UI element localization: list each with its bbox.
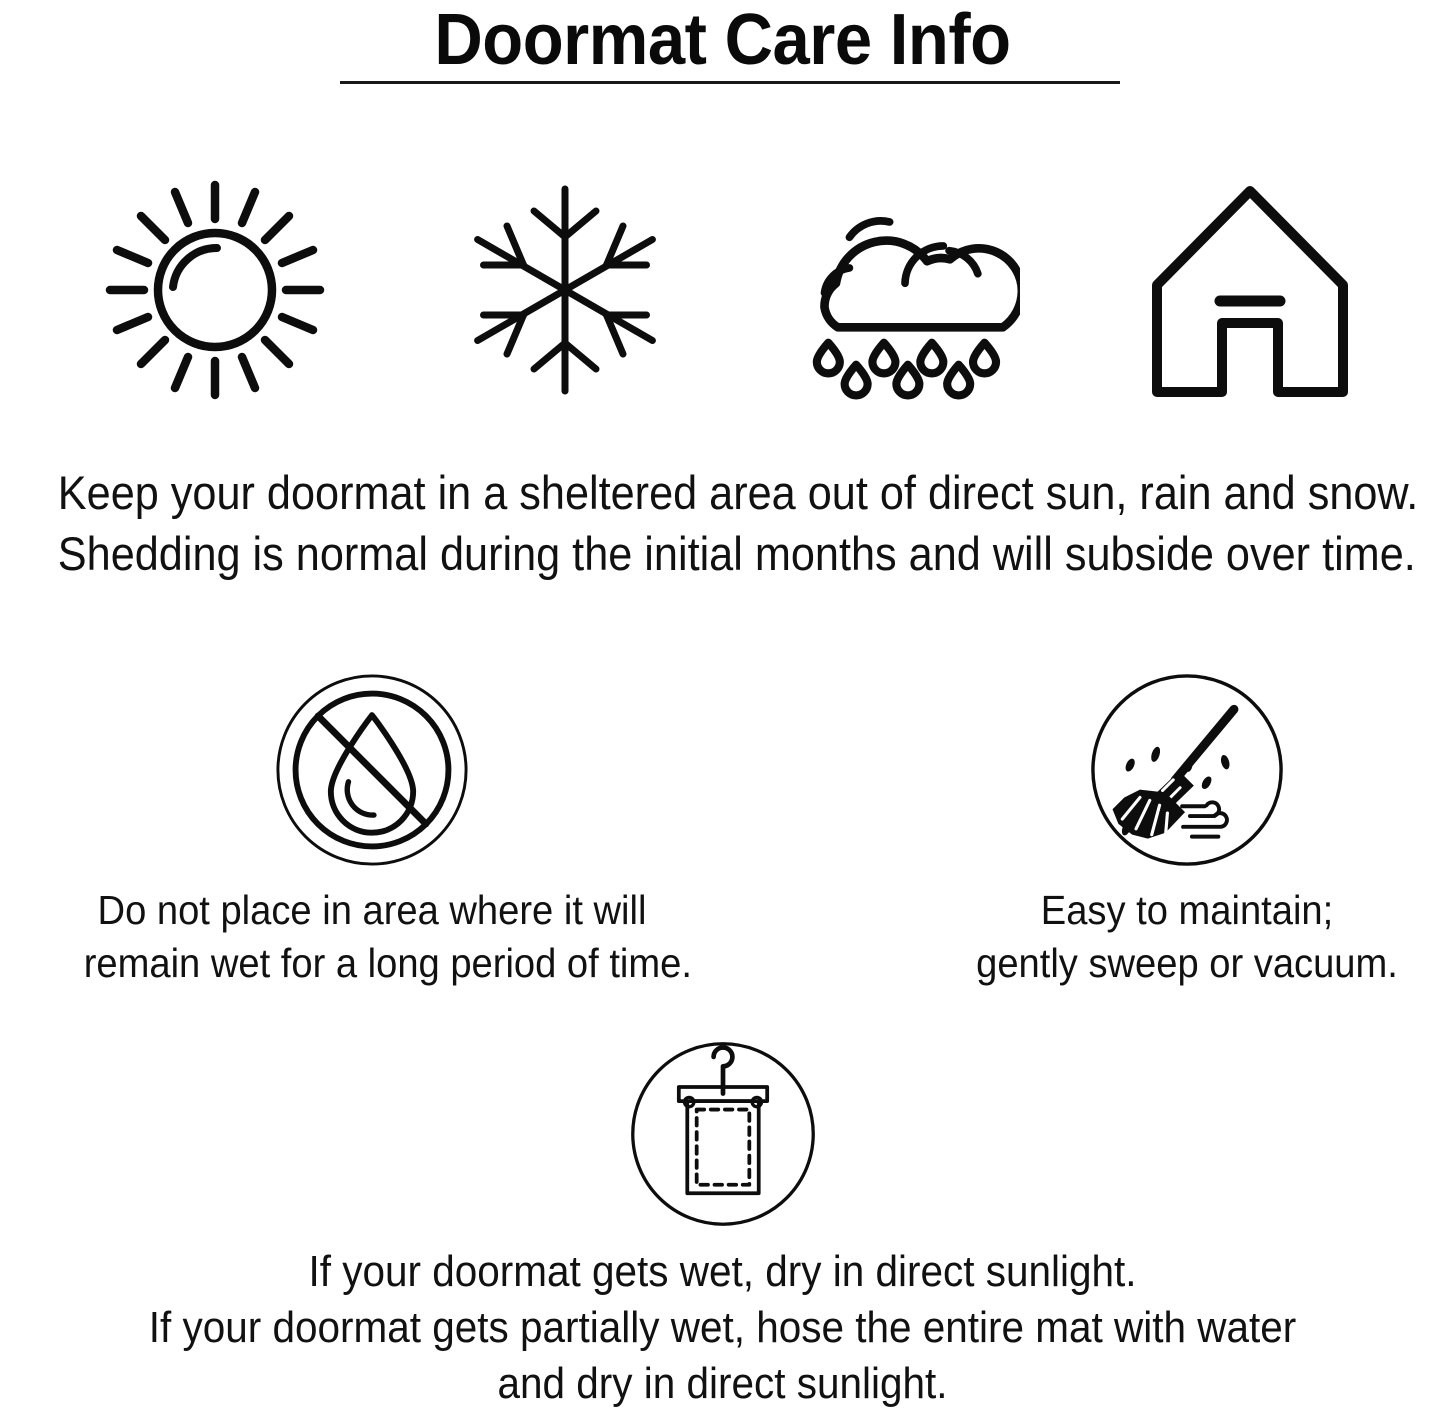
no-water-line-2: remain wet for a long period of time. — [84, 937, 661, 990]
lead-line-1: Keep your doormat in a sheltered area ou… — [58, 462, 1387, 523]
drying-line-2: If your doormat gets partially wet, hose… — [58, 1300, 1387, 1356]
care-item-no-water: Do not place in area where it will remai… — [62, 672, 682, 990]
lead-line-2: Shedding is normal during the initial mo… — [58, 523, 1387, 584]
broom-icon — [1089, 672, 1285, 868]
snowflake-icon — [450, 175, 680, 405]
no-water-icon — [274, 672, 470, 868]
sweep-caption: Easy to maintain; gently sweep or vacuum… — [899, 884, 1445, 990]
title-underline-divider — [340, 81, 1120, 84]
no-water-line-1: Do not place in area where it will — [84, 884, 661, 937]
hanging-mat-icon — [629, 1040, 817, 1228]
care-item-drying: If your doormat gets wet, dry in direct … — [0, 1040, 1445, 1412]
sweep-line-2: gently sweep or vacuum. — [899, 937, 1445, 990]
sweep-line-1: Easy to maintain; — [899, 884, 1445, 937]
weather-icon-row — [0, 175, 1445, 405]
rain-cloud-icon — [790, 175, 1020, 405]
drying-caption: If your doormat gets wet, dry in direct … — [58, 1244, 1387, 1412]
no-water-caption: Do not place in area where it will remai… — [84, 884, 661, 990]
lead-paragraph: Keep your doormat in a sheltered area ou… — [58, 462, 1387, 584]
page-header: Doormat Care Info — [0, 0, 1445, 78]
page-title: Doormat Care Info — [51, 0, 1395, 78]
care-item-sweep: Easy to maintain; gently sweep or vacuum… — [877, 672, 1445, 990]
drying-line-1: If your doormat gets wet, dry in direct … — [58, 1244, 1387, 1300]
drying-line-3: and dry in direct sunlight. — [58, 1356, 1387, 1412]
sun-icon — [100, 175, 330, 405]
house-icon — [1135, 175, 1365, 405]
